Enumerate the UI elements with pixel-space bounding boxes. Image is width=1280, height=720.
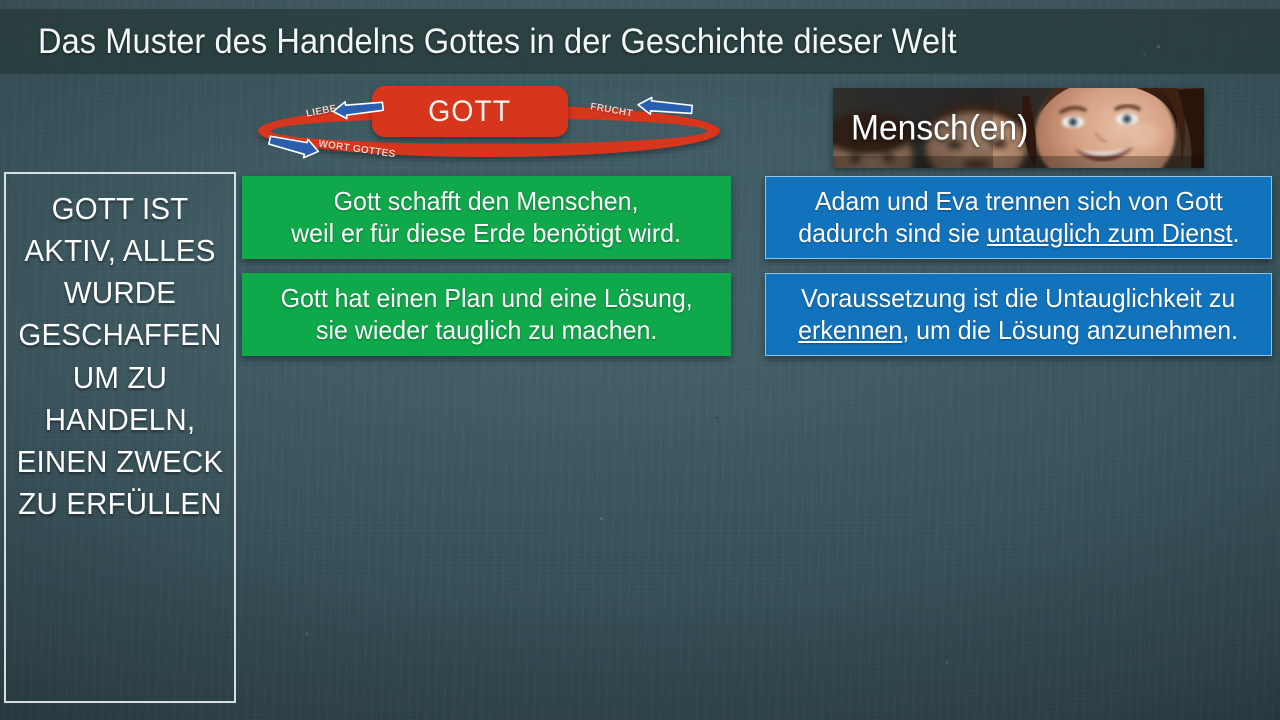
gott-cycle-diagram: GOTT LIEBE FRUCHT WORT GOTTES [252, 86, 727, 166]
blue-box-1-line2-post: . [1232, 218, 1239, 248]
green-box-2-line1: Gott hat einen Plan und eine Lösung, [280, 283, 692, 313]
gott-label: GOTT [429, 97, 512, 127]
green-box-2: Gott hat einen Plan und eine Lösung, sie… [242, 273, 731, 356]
page-title: Das Muster des Handelns Gottes in der Ge… [38, 24, 957, 59]
title-bar: Das Muster des Handelns Gottes in der Ge… [0, 9, 1280, 74]
green-box-1-line1: Gott schafft den Menschen, [334, 186, 639, 216]
blue-box-1-line1: Adam und Eva trennen sich von Gott [815, 186, 1223, 216]
green-box-2-line2: sie wieder tauglich zu machen. [316, 315, 657, 345]
gott-box: GOTT [372, 86, 568, 137]
green-box-1: Gott schafft den Menschen, weil er für d… [242, 176, 731, 259]
blue-box-1-text: Adam und Eva trennen sich von Gott dadur… [792, 186, 1245, 248]
mensch-photo-banner: Mensch(en) [833, 88, 1204, 168]
slide-canvas: Das Muster des Handelns Gottes in der Ge… [0, 0, 1280, 720]
blue-box-1: Adam und Eva trennen sich von Gott dadur… [765, 176, 1272, 259]
mensch-label: Mensch(en) [851, 111, 1028, 146]
left-statement-panel: GOTT IST AKTIV, ALLES WURDE GESCHAFFEN U… [4, 172, 236, 703]
frucht-arrow-icon [635, 98, 693, 116]
liebe-arrow-icon [330, 100, 384, 118]
blue-box-2-line2-post: , um die Lösung anzunehmen. [903, 315, 1239, 345]
left-panel-text: GOTT IST AKTIV, ALLES WURDE GESCHAFFEN U… [12, 188, 229, 525]
green-box-1-line2: weil er für diese Erde benötigt wird. [292, 218, 682, 248]
green-box-1-text: Gott schafft den Menschen, weil er für d… [286, 186, 687, 248]
blue-box-2: Voraussetzung ist die Untauglichkeit zu … [765, 273, 1272, 356]
green-box-2-text: Gott hat einen Plan und eine Lösung, sie… [275, 283, 699, 345]
wort-gottes-arrow-icon [268, 136, 322, 156]
blue-box-2-text: Voraussetzung ist die Untauglichkeit zu … [793, 283, 1244, 345]
blue-box-2-line1: Voraussetzung ist die Untauglichkeit zu [801, 283, 1235, 313]
blue-box-1-underlined: untauglich zum Dienst [987, 218, 1233, 248]
blue-box-2-underlined: erkennen [799, 315, 903, 345]
blue-box-1-line2-pre: dadurch sind sie [798, 218, 987, 248]
